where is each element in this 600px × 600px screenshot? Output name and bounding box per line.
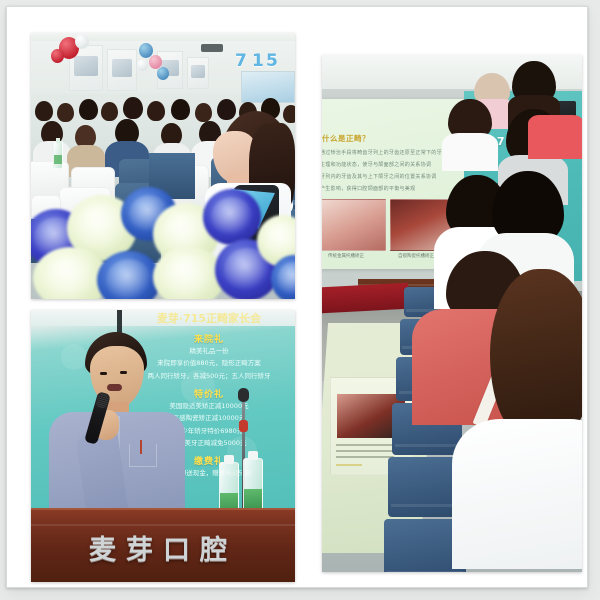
podium-brand-text: 麦芽口腔 bbox=[31, 528, 295, 567]
water-bottle bbox=[53, 141, 63, 169]
slide-body-line: 牙列内的牙齿及其与上下颌牙之间的位置关系协调 bbox=[322, 173, 437, 180]
pen-icon bbox=[140, 440, 142, 454]
slide-body-line: 产生影响，获得口腔颌面部的平衡与美观 bbox=[322, 185, 415, 192]
collage-frame: 7 1 5 bbox=[6, 6, 588, 588]
balloon-white-icon bbox=[137, 59, 148, 71]
seminar-audience-photo[interactable]: 7 1 5 bbox=[31, 33, 295, 299]
slide-caption: 传统金属托槽矫正 bbox=[328, 253, 364, 259]
collage-canvas: 7 1 5 bbox=[0, 0, 600, 600]
stand-microphone-icon bbox=[238, 388, 249, 402]
digit-7: 7 bbox=[235, 51, 248, 71]
audience-member bbox=[442, 99, 498, 167]
audience-member-foreground bbox=[472, 269, 582, 569]
speaker-shirt-pocket bbox=[129, 444, 157, 467]
digit-5: 5 bbox=[266, 51, 279, 71]
lecture-hall-photo[interactable]: 什么是正畸？ 通过矫治手段将畸齿牙列上的牙齿还原至正常下的牙齿 生理和功能状态，… bbox=[322, 55, 582, 572]
wall-number-715: 7 1 5 bbox=[235, 51, 289, 71]
balloon-blue-icon bbox=[157, 67, 169, 80]
speaker-mouth bbox=[107, 384, 122, 391]
balloon-red-icon bbox=[51, 49, 64, 63]
podium-speaker-photo[interactable]: 麦芽·715正畸家长会 来院礼 精美礼品一份 来院即享价值880元，隐形正畸方案… bbox=[31, 310, 295, 582]
audience-member bbox=[528, 103, 582, 157]
ceiling-projector-icon bbox=[201, 44, 223, 52]
slide-body-line: 生理和功能状态，使牙与颌面部之间的关系协调 bbox=[322, 161, 431, 168]
balloon-white-icon bbox=[75, 34, 89, 49]
foreground-roses bbox=[31, 185, 295, 299]
promo-banner-header: 麦芽·715正畸家长会 bbox=[125, 310, 293, 326]
wall-poster bbox=[187, 57, 209, 89]
wall-poster bbox=[107, 49, 137, 91]
slide-image-braces-a bbox=[322, 199, 386, 251]
slide-body-line: 通过矫治手段将畸齿牙列上的牙齿还原至正常下的牙齿 bbox=[322, 149, 447, 156]
slide-heading: 什么是正畸？ bbox=[322, 133, 370, 144]
digit-1: 1 bbox=[252, 51, 265, 71]
podium: 麦芽口腔 bbox=[31, 508, 295, 582]
